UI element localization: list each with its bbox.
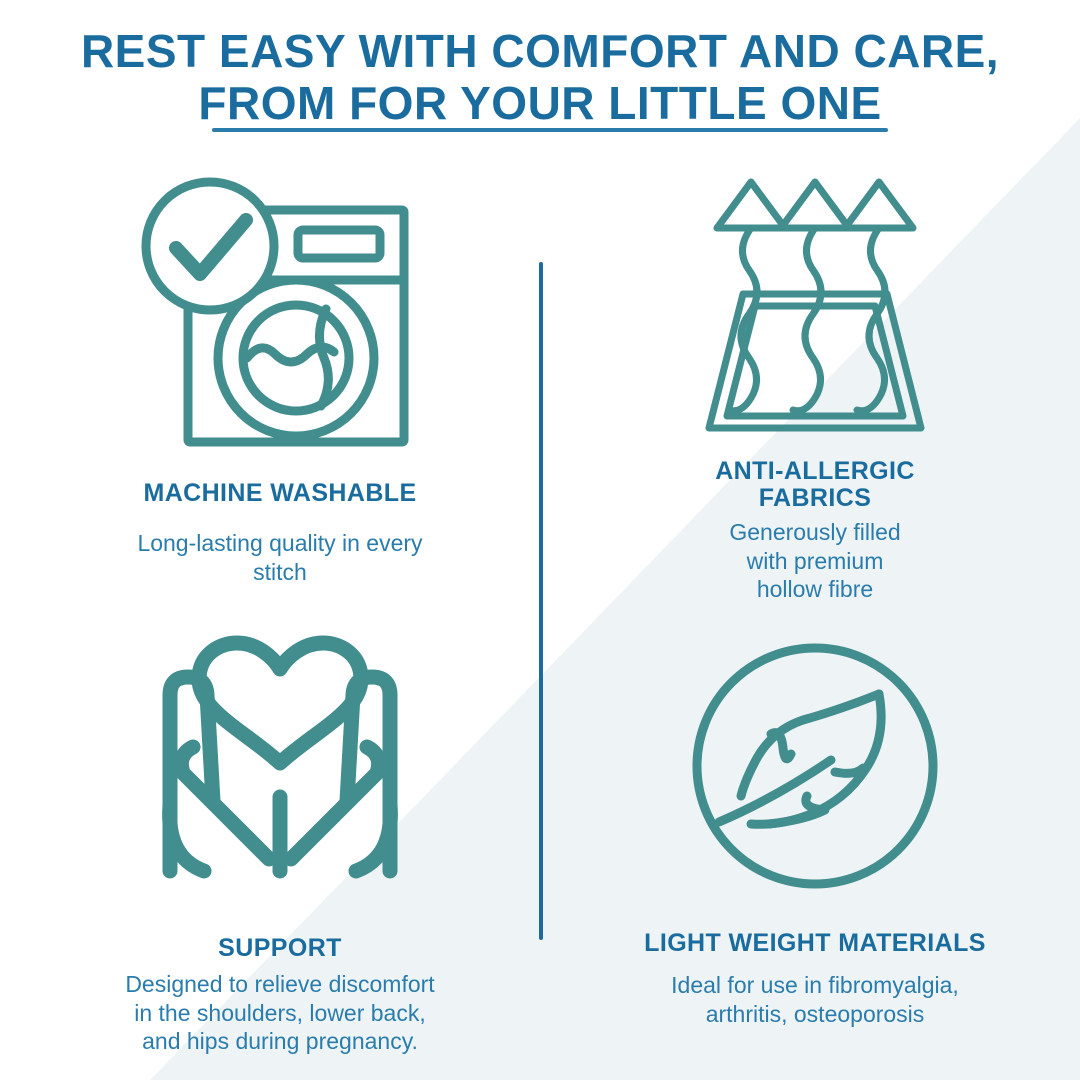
headline-line-1: REST EASY WITH COMFORT AND CARE, — [70, 26, 1010, 78]
feature-title: ANTI-ALLERGIC FABRICS — [715, 458, 915, 512]
feather-in-circle-icon — [683, 632, 947, 900]
feature-title: SUPPORT — [218, 935, 342, 962]
feature-support: SUPPORT Designed to relieve discomfort i… — [60, 635, 500, 1056]
feature-light-weight-materials: LIGHT WEIGHT MATERIALS Ideal for use in … — [600, 632, 1030, 1028]
page-title: REST EASY WITH COMFORT AND CARE, FROM FO… — [70, 26, 1010, 129]
feature-title: LIGHT WEIGHT MATERIALS — [644, 930, 986, 957]
feature-description: Ideal for use in fibromyalgia, arthritis… — [671, 971, 959, 1028]
infographic-poster: REST EASY WITH COMFORT AND CARE, FROM FO… — [0, 0, 1080, 1080]
vertical-divider — [539, 262, 543, 940]
breathable-fabric-arrows-icon — [681, 172, 949, 444]
feature-title: MACHINE WASHABLE — [143, 480, 416, 507]
title-underline — [212, 128, 888, 132]
feature-description: Designed to relieve discomfort in the sh… — [125, 970, 434, 1056]
feature-machine-washable: MACHINE WASHABLE Long-lasting quality in… — [60, 168, 500, 586]
hands-holding-heart-icon — [135, 635, 425, 905]
feature-description: Generously filled with premium hollow fi… — [729, 518, 900, 604]
washing-machine-check-icon — [130, 168, 430, 458]
poster-content: REST EASY WITH COMFORT AND CARE, FROM FO… — [0, 0, 1080, 1080]
feature-anti-allergic-fabrics: ANTI-ALLERGIC FABRICS Generously filled … — [600, 172, 1030, 604]
feature-description: Long-lasting quality in every stitch — [137, 529, 422, 586]
headline-line-2: FROM FOR YOUR LITTLE ONE — [70, 78, 1010, 130]
